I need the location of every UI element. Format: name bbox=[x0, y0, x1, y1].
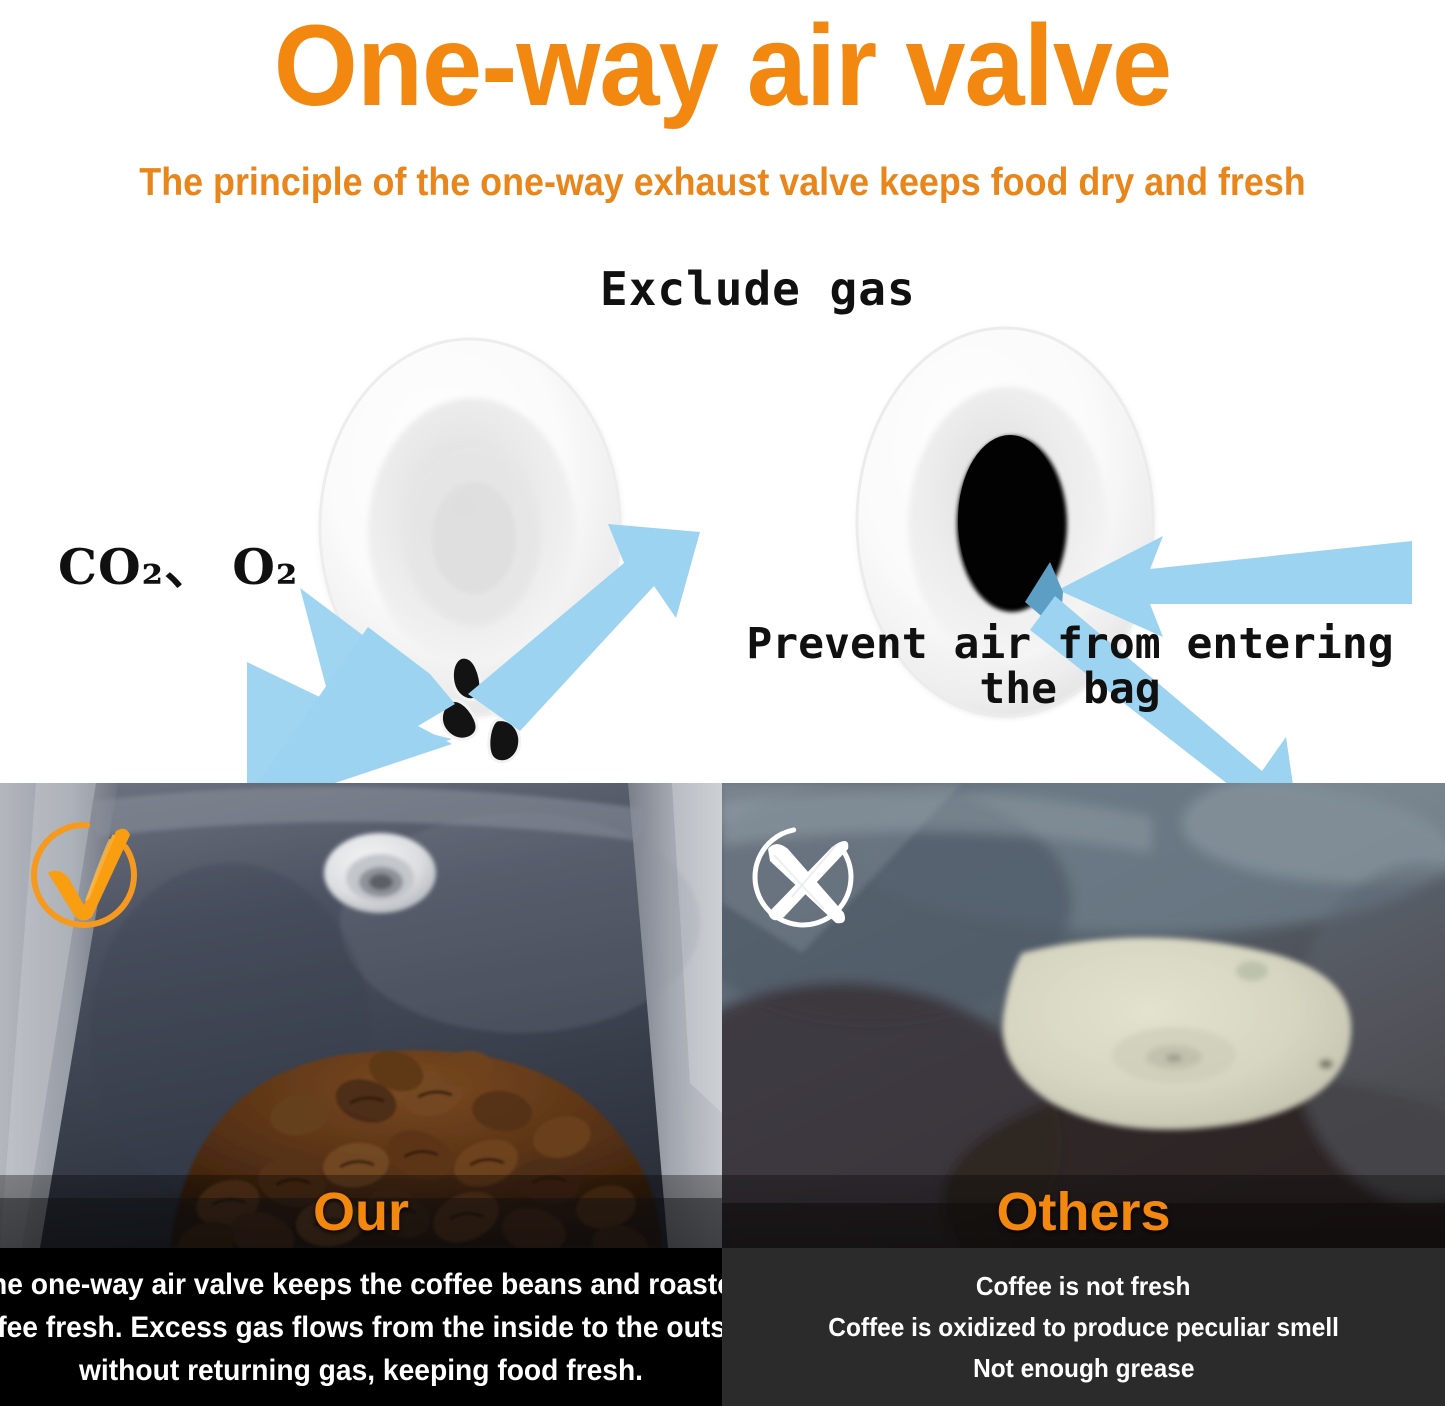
others-caption-line-1: Coffee is not fresh bbox=[976, 1266, 1191, 1307]
exclude-gas-label: Exclude gas bbox=[600, 262, 916, 316]
valve-diagram-section: Exclude gas CO₂、 O₂ Prevent air from ent… bbox=[0, 232, 1445, 783]
infographic-page: One-way air valve The principle of the o… bbox=[0, 0, 1445, 1406]
cross-mark-icon bbox=[740, 805, 880, 945]
gas-species-text: CO₂、 O₂ bbox=[58, 538, 298, 596]
comparison-panel-others: Others Coffee is not fresh Coffee is oxi… bbox=[722, 783, 1445, 1406]
our-caption-line-1: The one-way air valve keeps the coffee b… bbox=[0, 1263, 722, 1306]
page-title: One-way air valve bbox=[43, 2, 1401, 130]
our-caption-block: The one-way air valve keeps the coffee b… bbox=[0, 1248, 722, 1406]
comparison-section: Our The one-way air valve keeps the coff… bbox=[0, 783, 1445, 1406]
check-badge bbox=[18, 805, 158, 945]
check-mark-icon bbox=[18, 805, 158, 945]
left-valve-illustration bbox=[247, 337, 700, 783]
others-label: Others bbox=[996, 1184, 1170, 1240]
others-label-band: Others bbox=[722, 1175, 1445, 1248]
gas-species-label: CO₂、 O₂ bbox=[58, 528, 298, 599]
comparison-panel-our: Our The one-way air valve keeps the coff… bbox=[0, 783, 722, 1406]
grease-patch bbox=[1003, 937, 1352, 1129]
page-subtitle: The principle of the one-way exhaust val… bbox=[58, 158, 1387, 208]
others-caption-line-2: Coffee is oxidized to produce peculiar s… bbox=[828, 1307, 1339, 1348]
others-caption-line-3: Not enough grease bbox=[973, 1348, 1194, 1389]
right-valve-illustration bbox=[855, 326, 1412, 783]
prevent-air-label: Prevent air from entering the bag bbox=[720, 622, 1420, 712]
header-section: One-way air valve The principle of the o… bbox=[0, 0, 1445, 232]
our-caption-line-3: without returning gas, keeping food fres… bbox=[79, 1349, 643, 1392]
our-label-band: Our bbox=[0, 1175, 722, 1248]
cross-badge bbox=[740, 805, 880, 945]
our-label: Our bbox=[313, 1184, 409, 1240]
our-caption-line-2: coffee fresh. Excess gas flows from the … bbox=[0, 1306, 722, 1349]
valve-on-bag bbox=[324, 833, 436, 913]
others-caption-block: Coffee is not fresh Coffee is oxidized t… bbox=[722, 1248, 1445, 1406]
